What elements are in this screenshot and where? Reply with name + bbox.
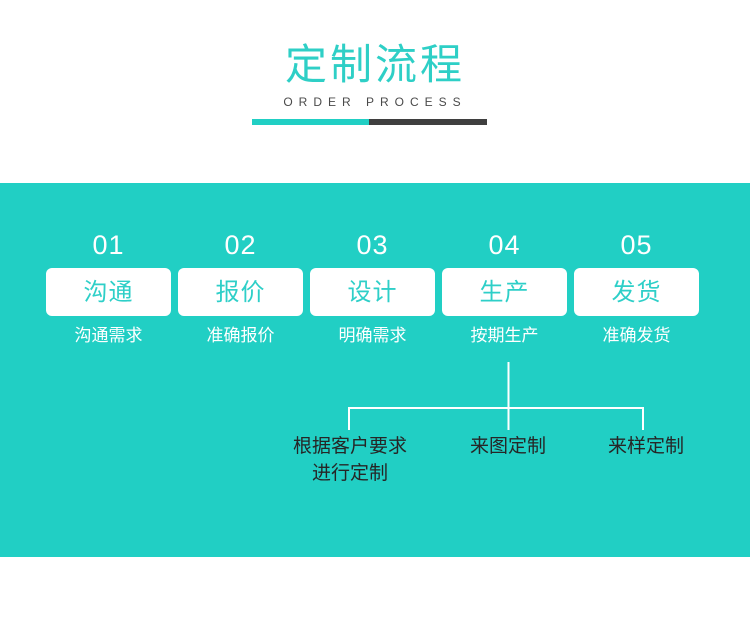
footer-spacer [0,557,750,632]
bracket-label-custom-by-sample: 来样定制 [578,433,714,460]
header: 定制流程 ORDER PROCESS [0,0,750,183]
bracket-label-custom-by-requirement: 根据客户要求 进行定制 [262,433,438,487]
bracket-label-line-2: 进行定制 [262,460,438,487]
title-underline [252,119,487,125]
process-panel: 01 沟通 沟通需求 02 报价 准确报价 03 设计 明确需求 [0,183,750,557]
bracket-label-line-1: 根据客户要求 [262,433,438,460]
title-underline-accent [252,119,369,125]
order-process-banner: 定制流程 ORDER PROCESS 01 沟通 沟通需求 02 报价 准确报价 [0,0,750,632]
page-subtitle: ORDER PROCESS [0,93,750,111]
bracket-label-custom-by-drawing: 来图定制 [440,433,576,460]
page-title: 定制流程 [0,40,750,90]
bracket-labels: 根据客户要求 进行定制 来图定制 来样定制 [0,183,750,557]
